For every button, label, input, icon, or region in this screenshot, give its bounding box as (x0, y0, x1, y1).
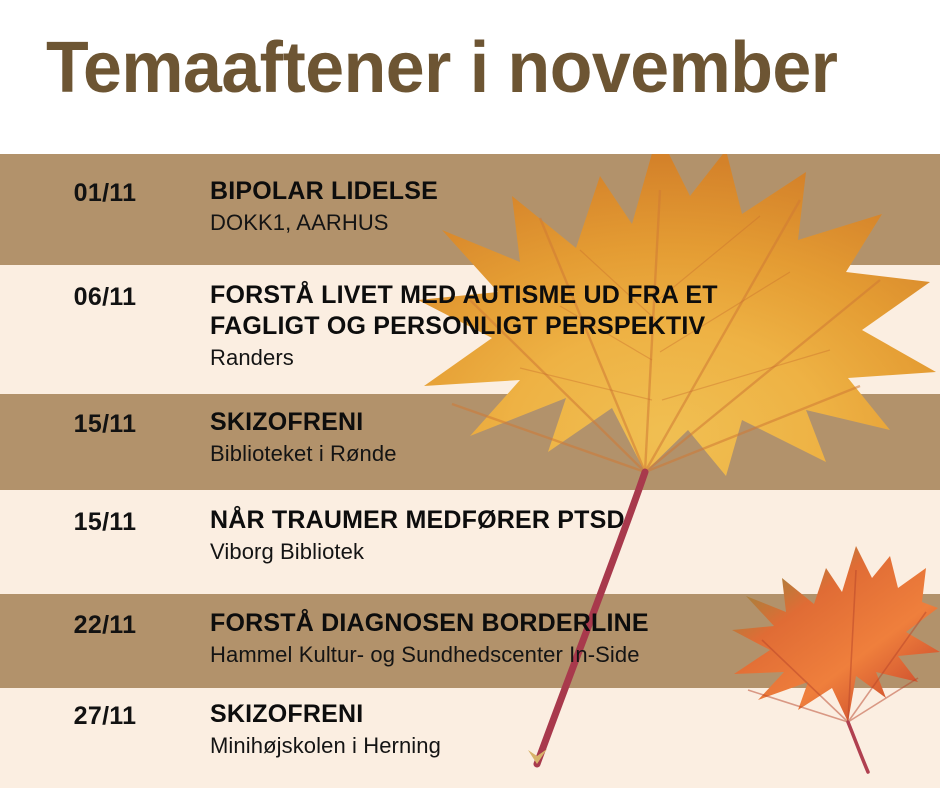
event-venue: Randers (210, 343, 940, 373)
event-body: FORSTÅ LIVET MED AUTISME UD FRA ET FAGLI… (210, 280, 940, 373)
event-title: BIPOLAR LIDELSE (210, 176, 940, 207)
event-body: BIPOLAR LIDELSE DOKK1, AARHUS (210, 176, 940, 238)
event-row-3: 15/11 SKIZOFRENI Biblioteket i Rønde (0, 407, 940, 469)
poster-canvas: Temaaftener i november 01/11 BIPOLAR LID… (0, 0, 940, 788)
event-title: FORSTÅ LIVET MED AUTISME UD FRA ET FAGLI… (210, 280, 940, 342)
event-venue: DOKK1, AARHUS (210, 208, 940, 238)
event-date: 15/11 (0, 407, 210, 440)
event-venue: Viborg Bibliotek (210, 537, 940, 567)
event-title: NÅR TRAUMER MEDFØRER PTSD (210, 505, 940, 536)
event-row-5: 22/11 FORSTÅ DIAGNOSEN BORDERLINE Hammel… (0, 608, 940, 670)
event-venue: Biblioteket i Rønde (210, 439, 940, 469)
event-row-4: 15/11 NÅR TRAUMER MEDFØRER PTSD Viborg B… (0, 505, 940, 567)
event-title: FORSTÅ DIAGNOSEN BORDERLINE (210, 608, 940, 639)
event-date: 06/11 (0, 280, 210, 313)
event-row-1: 01/11 BIPOLAR LIDELSE DOKK1, AARHUS (0, 176, 940, 238)
event-date: 22/11 (0, 608, 210, 641)
event-body: SKIZOFRENI Biblioteket i Rønde (210, 407, 940, 469)
event-title: SKIZOFRENI (210, 407, 940, 438)
event-body: FORSTÅ DIAGNOSEN BORDERLINE Hammel Kultu… (210, 608, 940, 670)
page-title: Temaaftener i november (46, 29, 837, 107)
event-row-2: 06/11 FORSTÅ LIVET MED AUTISME UD FRA ET… (0, 280, 940, 373)
event-title: SKIZOFRENI (210, 699, 940, 730)
event-date: 01/11 (0, 176, 210, 209)
event-venue: Hammel Kultur- og Sundhedscenter In-Side (210, 640, 940, 670)
event-row-6: 27/11 SKIZOFRENI Minihøjskolen i Herning (0, 699, 940, 761)
event-body: SKIZOFRENI Minihøjskolen i Herning (210, 699, 940, 761)
event-date: 27/11 (0, 699, 210, 732)
event-venue: Minihøjskolen i Herning (210, 731, 940, 761)
event-date: 15/11 (0, 505, 210, 538)
event-body: NÅR TRAUMER MEDFØRER PTSD Viborg Bibliot… (210, 505, 940, 567)
title-area: Temaaftener i november (0, 0, 940, 154)
